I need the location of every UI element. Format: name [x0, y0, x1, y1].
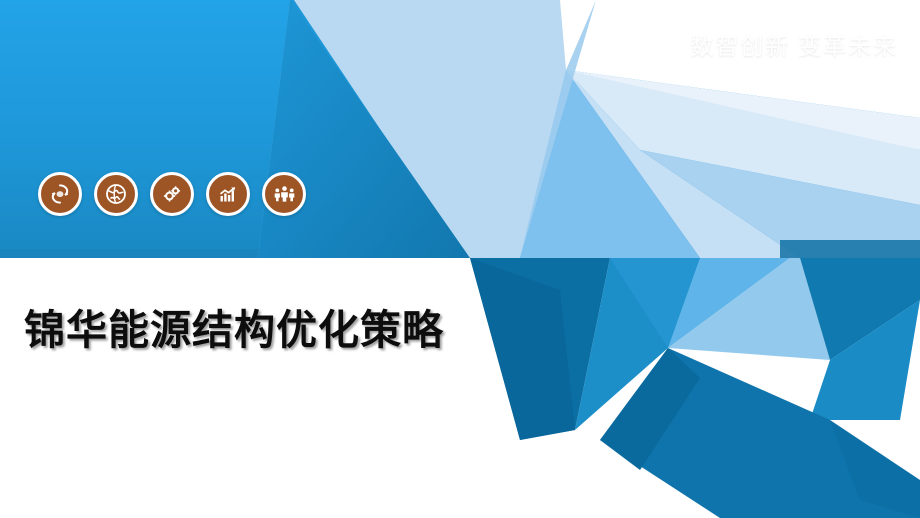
- icon-badge-row: [38, 172, 306, 216]
- people-group-icon[interactable]: [262, 172, 306, 216]
- people-group-glyph: [272, 182, 297, 206]
- bar-chart-growth-glyph: [216, 182, 240, 206]
- gears-icon[interactable]: [150, 172, 194, 216]
- page-title: 锦华能源结构优化策略: [24, 296, 444, 356]
- presentation-title-slide: 数智创新 变革未来: [0, 0, 920, 518]
- recycle-leaf-glyph: [48, 182, 72, 206]
- slide-tagline: 数智创新 变革未来: [690, 27, 898, 61]
- background-polygon-artwork: [0, 0, 920, 518]
- recycle-leaf-icon[interactable]: [38, 172, 82, 216]
- band-right-strip: [780, 240, 920, 258]
- bar-chart-growth-icon[interactable]: [206, 172, 250, 216]
- gears-glyph: [160, 182, 184, 206]
- globe-icon[interactable]: [94, 172, 138, 216]
- globe-glyph: [104, 182, 128, 206]
